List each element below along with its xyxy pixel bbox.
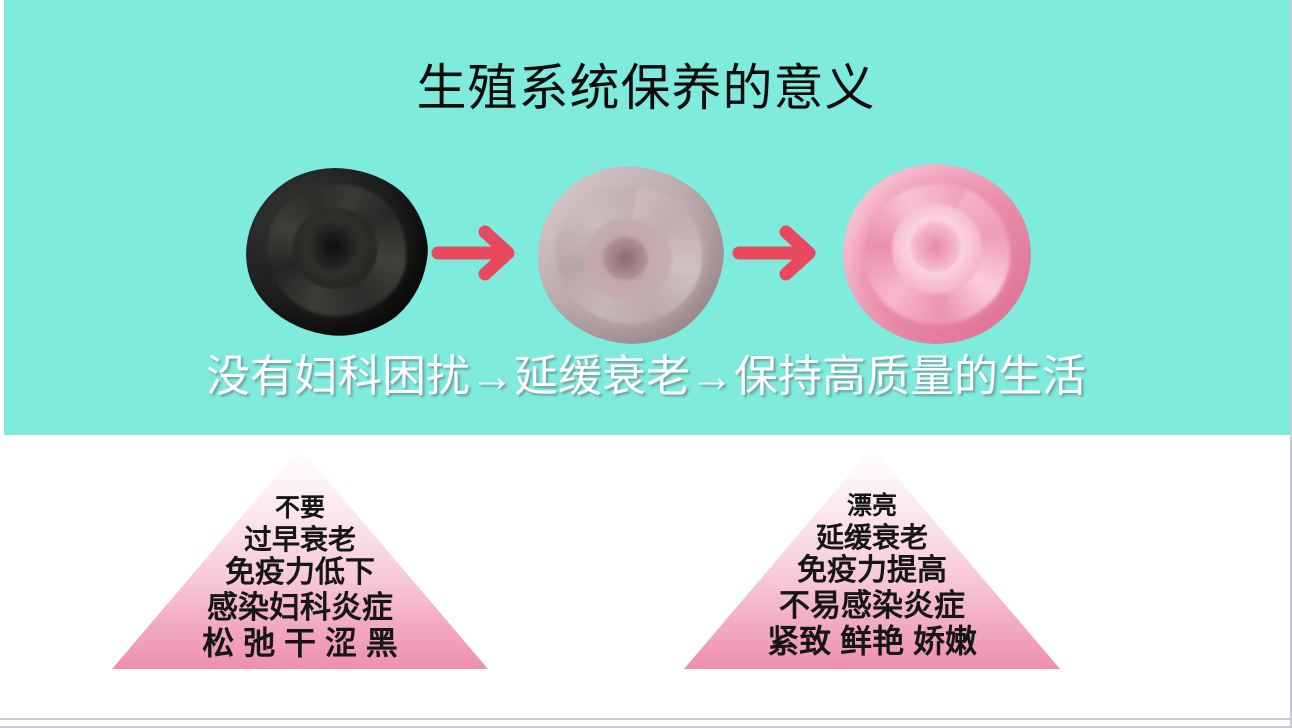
triangle-line: 漂亮: [684, 494, 1060, 519]
triangle-line: 不易感染炎症: [684, 590, 1060, 621]
triangle-positive-text: 漂亮 延缓衰老 免疫力提高 不易感染炎症 紧致 鲜艳 娇嫩: [684, 494, 1060, 657]
subtitle: 没有妇科困扰→延缓衰老→保持高质量的生活: [0, 352, 1292, 403]
triangle-line: 不要: [112, 496, 488, 521]
rose-dark-image: [246, 168, 428, 336]
rose-faded-image: [538, 166, 724, 344]
triangle-negative: 不要 过早衰老 免疫力低下 感染妇科炎症 松 弛 干 涩 黑: [112, 448, 488, 669]
triangle-line: 紧致 鲜艳 娇嫩: [684, 625, 1060, 657]
triangle-positive: 漂亮 延缓衰老 免疫力提高 不易感染炎症 紧致 鲜艳 娇嫩: [684, 448, 1060, 669]
rose-pink-image: [843, 164, 1031, 344]
triangle-line: 免疫力低下: [112, 558, 488, 588]
triangle-negative-text: 不要 过早衰老 免疫力低下 感染妇科炎症 松 弛 干 涩 黑: [112, 496, 488, 659]
rose-core-center: [312, 225, 356, 269]
rose-core-center: [603, 237, 648, 280]
triangle-line: 免疫力提高: [684, 556, 1060, 586]
triangle-line: 过早衰老: [112, 526, 488, 554]
triangle-line: 松 弛 干 涩 黑: [112, 627, 488, 659]
arrow-right-icon: [430, 222, 522, 282]
bottom-divider: [0, 718, 1292, 720]
slide: 生殖系统保养的意义: [0, 0, 1292, 728]
rose-core-center: [911, 222, 960, 272]
page-title: 生殖系统保养的意义: [0, 63, 1292, 113]
triangle-line: 延缓衰老: [684, 524, 1060, 552]
rose-progression: [228, 160, 1068, 350]
triangle-line: 感染妇科炎症: [112, 592, 488, 623]
arrow-right-icon: [731, 222, 823, 282]
